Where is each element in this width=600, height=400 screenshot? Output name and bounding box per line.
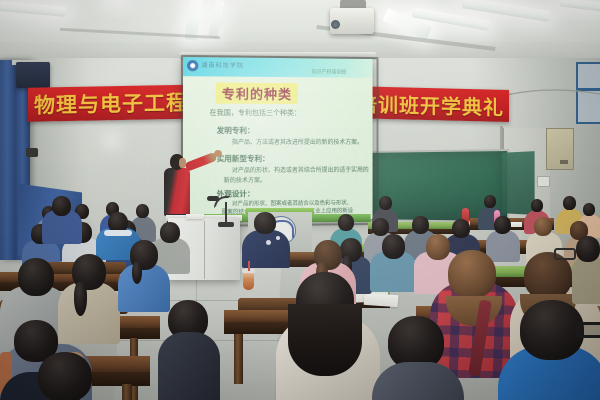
projector-lens-icon bbox=[331, 20, 340, 29]
student-beige-coat bbox=[58, 282, 120, 344]
student-head bbox=[531, 199, 543, 212]
student-head bbox=[372, 218, 389, 236]
microphone-head-icon bbox=[207, 196, 219, 201]
hoodie-logo-icon bbox=[266, 240, 271, 245]
student-head bbox=[18, 258, 54, 296]
student-head bbox=[448, 250, 496, 298]
student-head bbox=[38, 352, 92, 400]
student-blue-jacket bbox=[118, 264, 170, 312]
drink-straw bbox=[248, 261, 250, 271]
screen-frame bbox=[181, 55, 379, 227]
student-head bbox=[379, 196, 392, 210]
presenter-body bbox=[164, 168, 190, 216]
microphone-base bbox=[218, 222, 234, 227]
long-hair bbox=[288, 304, 362, 376]
presenter-hand bbox=[214, 150, 222, 157]
ponytail bbox=[132, 262, 142, 284]
student-head bbox=[254, 212, 276, 234]
eyeglasses-icon bbox=[554, 248, 576, 260]
student-head bbox=[534, 217, 552, 236]
eyeglasses-icon bbox=[576, 322, 600, 338]
wall-outlet bbox=[26, 148, 38, 157]
student-head bbox=[382, 234, 405, 259]
iced-drink-cup bbox=[243, 272, 254, 290]
student-head bbox=[520, 300, 584, 360]
student-head bbox=[426, 234, 450, 260]
student-head bbox=[576, 236, 600, 262]
student-head bbox=[452, 219, 470, 238]
microphone-stand bbox=[225, 202, 227, 224]
student-olive-top bbox=[572, 256, 600, 304]
hoodie-logo-icon bbox=[276, 236, 280, 240]
wall-light-switch[interactable] bbox=[537, 176, 550, 187]
panel-label bbox=[560, 160, 568, 164]
student-head bbox=[563, 196, 576, 210]
open-notebook bbox=[364, 293, 399, 307]
student-head bbox=[52, 196, 71, 216]
podium-papers bbox=[186, 214, 204, 219]
podium-seam bbox=[204, 221, 205, 279]
wall-speaker-box bbox=[16, 62, 50, 88]
blackboard-side-panel bbox=[502, 151, 534, 215]
ponytail bbox=[74, 282, 87, 316]
student-head bbox=[136, 204, 149, 218]
student-head bbox=[583, 203, 595, 216]
student-head bbox=[494, 216, 511, 234]
student-head bbox=[412, 216, 429, 234]
student-body bbox=[486, 230, 520, 262]
student-head bbox=[160, 222, 180, 243]
jacket-collar bbox=[104, 230, 132, 236]
presenter-face bbox=[179, 158, 186, 168]
student-body bbox=[158, 332, 220, 400]
student-head bbox=[338, 214, 354, 231]
classroom-photo: 物理与电子工程学 培训班开学典礼 湖南科技学院 知识产权培训班 专利的种类 在我… bbox=[0, 0, 600, 400]
desk-leg bbox=[122, 384, 132, 400]
banner-right-text: 培训班开学典礼 bbox=[357, 88, 504, 121]
desk-leg bbox=[234, 334, 243, 384]
student-head bbox=[484, 195, 496, 208]
